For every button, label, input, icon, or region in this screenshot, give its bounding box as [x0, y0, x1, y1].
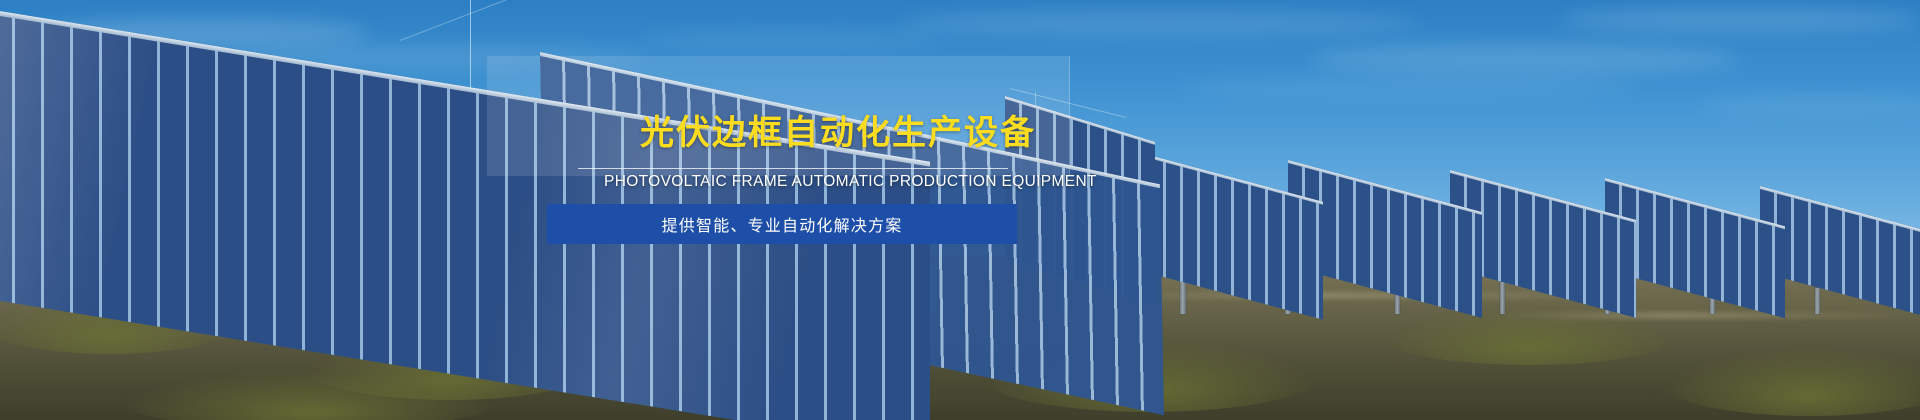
cloud: [640, 30, 940, 48]
tagline-text: 提供智能、专业自动化解决方案: [662, 212, 903, 236]
headline-divider: [578, 168, 1008, 169]
cloud: [1180, 78, 1640, 98]
cloud: [1310, 44, 1740, 74]
cloud: [1560, 8, 1920, 32]
support-post: [1500, 282, 1505, 314]
banner-headline: 光伏边框自动化生产设备: [640, 113, 1340, 153]
tagline-bar: 提供智能、专业自动化解决方案: [547, 204, 1017, 244]
support-post: [1815, 288, 1820, 314]
cloud: [1700, 96, 1920, 114]
hero-banner: 光伏边框自动化生产设备 PHOTOVOLTAIC FRAME AUTOMATIC…: [0, 0, 1920, 420]
cloud: [900, 10, 1420, 36]
banner-subline-english: PHOTOVOLTAIC FRAME AUTOMATIC PRODUCTION …: [604, 173, 1097, 191]
